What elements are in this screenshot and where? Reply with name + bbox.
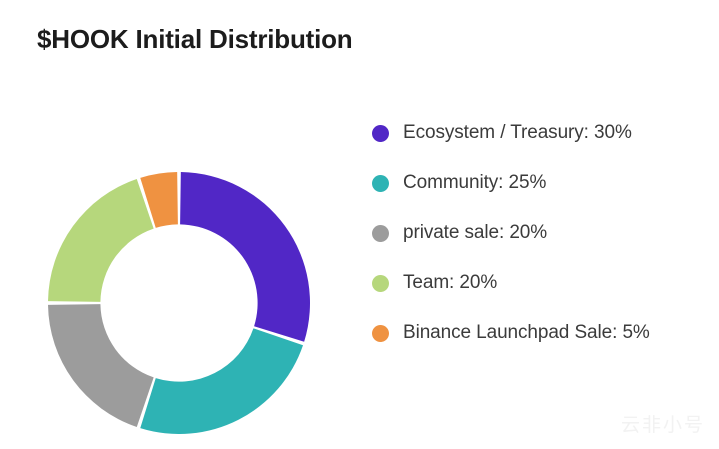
legend-item-label: Binance Launchpad Sale: 5%: [403, 322, 650, 344]
donut-slice[interactable]: [48, 304, 154, 427]
legend-swatch-community: [372, 175, 389, 192]
legend-swatch-binance-launchpad-sale: [372, 325, 389, 342]
chart-legend: Ecosystem / Treasury: 30%Community: 25%p…: [372, 108, 702, 358]
watermark: 云非小号: [621, 410, 705, 437]
donut-slice[interactable]: [180, 172, 310, 342]
donut-slice[interactable]: [140, 328, 303, 434]
page-title: $HOOK Initial Distribution: [37, 24, 352, 55]
donut-chart: [48, 172, 310, 434]
legend-item-label: Team: 20%: [403, 272, 497, 294]
legend-item-label: Community: 25%: [403, 172, 546, 194]
legend-swatch-private-sale: [372, 225, 389, 242]
donut-slice-group: [48, 172, 310, 434]
legend-item-label: Ecosystem / Treasury: 30%: [403, 122, 632, 144]
legend-swatch-ecosystem-treasury: [372, 125, 389, 142]
legend-swatch-team: [372, 275, 389, 292]
legend-item[interactable]: private sale: 20%: [372, 208, 702, 258]
legend-item-label: private sale: 20%: [403, 222, 547, 244]
donut-chart-svg: [48, 172, 310, 434]
legend-item[interactable]: Ecosystem / Treasury: 30%: [372, 108, 702, 158]
donut-slice[interactable]: [48, 179, 154, 302]
chart-page: $HOOK Initial Distribution Ecosystem / T…: [0, 0, 719, 449]
legend-item[interactable]: Binance Launchpad Sale: 5%: [372, 308, 702, 358]
legend-item[interactable]: Community: 25%: [372, 158, 702, 208]
legend-item[interactable]: Team: 20%: [372, 258, 702, 308]
